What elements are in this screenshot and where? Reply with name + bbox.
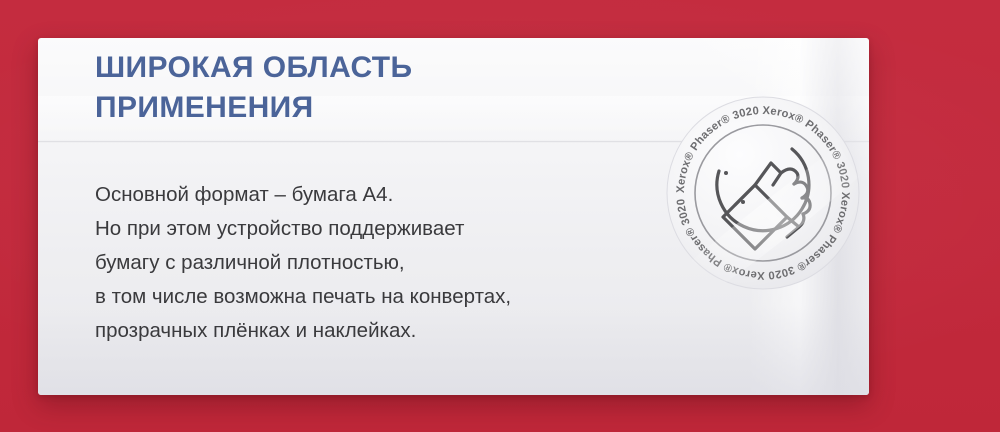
seal-outer-edge — [667, 97, 859, 289]
seal-inner-ring — [695, 125, 831, 261]
page-title: ШИРОКАЯ ОБЛАСТЬ ПРИМЕНЕНИЯ — [95, 48, 565, 128]
page-title-line-2: ПРИМЕНЕНИЯ — [95, 88, 565, 128]
slide-canvas: ШИРОКАЯ ОБЛАСТЬ ПРИМЕНЕНИЯ Основной форм… — [0, 0, 1000, 432]
paper-card: ШИРОКАЯ ОБЛАСТЬ ПРИМЕНЕНИЯ Основной форм… — [38, 38, 869, 395]
body-text-line-2: Но при этом устройство поддерживает — [95, 212, 655, 246]
hand-holding-envelope-icon — [717, 149, 810, 249]
body-text-line-1: Основной формат – бумага А4. — [95, 178, 655, 212]
body-text: Основной формат – бумага А4. Но при этом… — [95, 178, 655, 348]
paper-fold-line — [38, 140, 869, 143]
paper-corner-sheen — [644, 38, 869, 243]
paper-crease-right — [749, 38, 869, 395]
body-text-line-4: в том числе возможна печать на конвертах… — [95, 280, 655, 314]
product-seal-badge: Xerox® Phaser® 3020 Xerox® Phaser® 3020 … — [663, 93, 863, 293]
page-title-line-1: ШИРОКАЯ ОБЛАСТЬ — [95, 48, 565, 88]
body-text-line-5: прозрачных плёнках и наклейках. — [95, 314, 655, 348]
seal-gloss-sheen — [691, 145, 859, 283]
seal-outer-disc — [667, 97, 859, 289]
seal-ring-text: Xerox® Phaser® 3020 Xerox® Phaser® 3020 … — [675, 105, 851, 281]
body-text-line-3: бумагу с различной плотностью, — [95, 246, 655, 280]
